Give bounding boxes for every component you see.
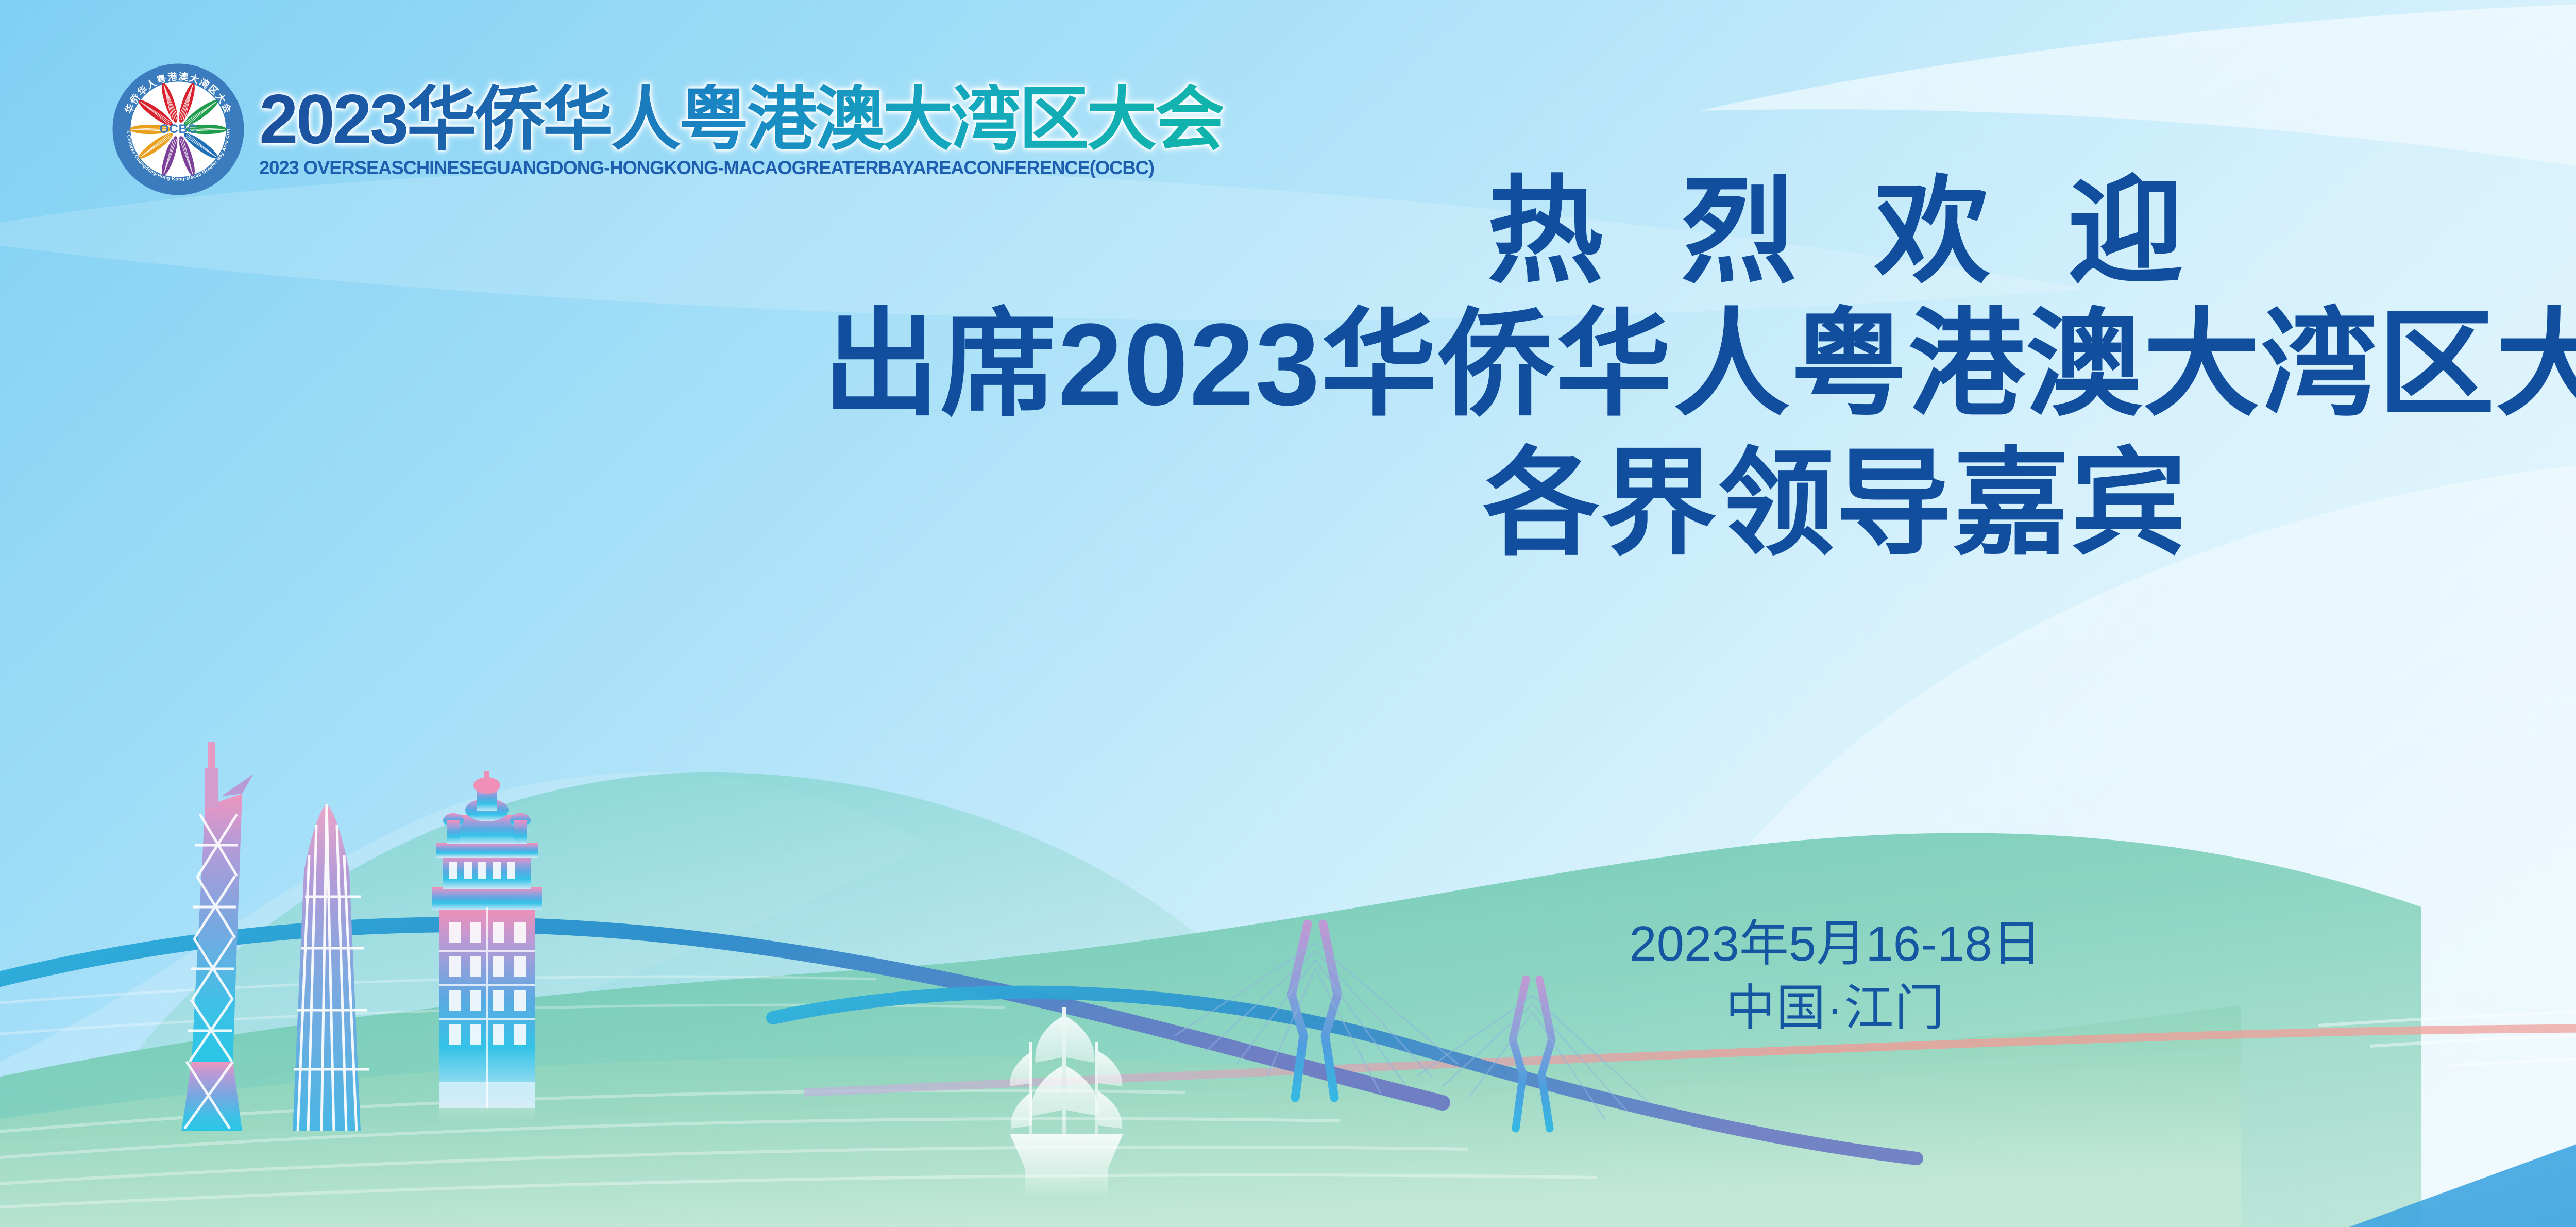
title-line-1: 出席2023华侨华人粤港澳大湾区大会的	[0, 293, 2576, 435]
title-line-2: 各界领导嘉宾	[0, 435, 2576, 573]
event-meta-block: 2023年5月16-18日 中国·江门	[0, 912, 2576, 1041]
emblem-center-text: OCBC	[160, 122, 197, 136]
event-venue: 中国·江门	[0, 977, 2576, 1041]
event-date: 2023年5月16-18日	[0, 912, 2576, 977]
headline-block: 热 烈 欢 迎 出席2023华侨华人粤港澳大湾区大会的 各界领导嘉宾	[0, 170, 2576, 573]
welcome-banner: 华侨华人粤港澳大湾区大会 Overseas Chinese Guangdong-…	[0, 0, 2576, 1227]
welcome-heading: 热 烈 欢 迎	[0, 170, 2576, 293]
logo-wordmark: 2023华侨华人粤港澳大湾区大会	[259, 84, 1223, 154]
